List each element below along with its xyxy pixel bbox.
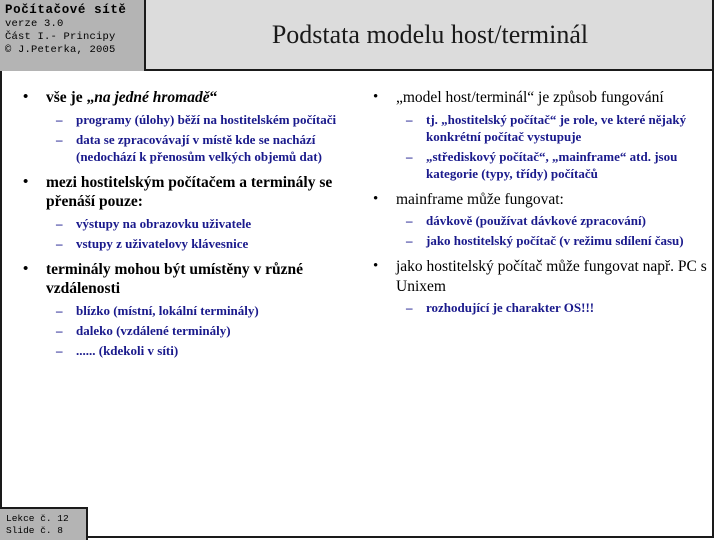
slide-number: Slide č. 8 [6,525,86,537]
sub-list-item-label: vstupy z uživatelovy klávesnice [76,235,359,252]
course-title: Počítačové sítě [5,3,144,18]
sub-list-item: – dávkově (používat dávkové zpracování) [396,212,712,229]
sub-list-item: – blízko (místní, lokální terminály) [46,302,359,319]
sub-list: – dávkově (používat dávkové zpracování) … [396,212,712,249]
sub-list-item: – data se zpracovávají v místě kde se na… [46,131,359,165]
sub-list-item-label: výstupy na obrazovku uživatele [76,215,359,232]
list-item: • terminály mohou být umístěny v různé v… [14,260,359,359]
content-column-right: • „model host/terminál“ je způsob fungov… [364,88,712,324]
dash-icon: – [56,302,63,319]
bullet-list-right: • „model host/terminál“ je způsob fungov… [364,88,712,316]
course-copyright: © J.Peterka, 2005 [5,44,144,57]
sub-list-item-label: blízko (místní, lokální terminály) [76,302,359,319]
list-item: • jako hostitelský počítač může fungovat… [364,257,712,316]
sub-list-item: – rozhodující je charakter OS!!! [396,299,712,316]
slide-header-band: Počítačové sítě verze 3.0 Část I.- Princ… [0,0,714,71]
dash-icon: – [406,148,413,165]
bullet-icon: • [373,257,378,277]
sub-list-item-label: dávkově (používat dávkové zpracování) [426,212,712,229]
sub-list-item-label: „střediskový počítač“, „mainframe“ atd. … [426,148,712,182]
course-part: Část I.- Principy [5,31,144,44]
list-item: • vše je „na jedné hromadě“ – programy (… [14,88,359,165]
dash-icon: – [406,232,413,249]
sub-list-item-label: programy (úlohy) běží na hostitelském po… [76,111,359,128]
bullet-icon: • [23,173,28,193]
sub-list-item-label: ...... (kdekoli v síti) [76,342,359,359]
sub-list-item-label: daleko (vzdálené terminály) [76,322,359,339]
sub-list: – programy (úlohy) běží na hostitelském … [46,111,359,165]
dash-icon: – [56,322,63,339]
sub-list: – rozhodující je charakter OS!!! [396,299,712,316]
bullet-icon: • [23,260,28,280]
dash-icon: – [406,111,413,128]
list-item: • mezi hostitelským počítačem a terminál… [14,173,359,252]
list-item-label: vše je „na jedné hromadě“ [46,88,359,108]
sub-list-item-label: rozhodující je charakter OS!!! [426,299,712,316]
sub-list-item: – „střediskový počítač“, „mainframe“ atd… [396,148,712,182]
sub-list-item: – jako hostitelský počítač (v režimu sdí… [396,232,712,249]
sub-list-item: – vstupy z uživatelovy klávesnice [46,235,359,252]
sub-list-item: – výstupy na obrazovku uživatele [46,215,359,232]
list-item-label: mezi hostitelským počítačem a terminály … [46,173,359,212]
text-post: “ [210,89,218,106]
sub-list-item: – ...... (kdekoli v síti) [46,342,359,359]
lecture-number: Lekce č. 12 [6,513,86,525]
page-title: Podstata modelu host/terminál [148,0,712,69]
bullet-icon: • [373,88,378,108]
dash-icon: – [56,215,63,232]
list-item-label: terminály mohou být umístěny v různé vzd… [46,260,359,299]
dash-icon: – [406,299,413,316]
sub-list-item: – tj. „hostitelský počítač“ je role, ve … [396,111,712,145]
dash-icon: – [56,342,63,359]
sub-list: – blízko (místní, lokální terminály) – d… [46,302,359,359]
list-item-label: jako hostitelský počítač může fungovat n… [396,257,712,296]
text-italic: na jedné hromadě [94,89,209,106]
text-pre: vše je „ [46,89,94,106]
dash-icon: – [56,235,63,252]
sub-list-item: – programy (úlohy) běží na hostitelském … [46,111,359,128]
list-item: • mainframe může fungovat: – dávkově (po… [364,190,712,250]
content-column-left: • vše je „na jedné hromadě“ – programy (… [14,88,359,367]
sub-list-item-label: tj. „hostitelský počítač“ je role, ve kt… [426,111,712,145]
bullet-icon: • [373,190,378,210]
bullet-icon: • [23,88,28,108]
sub-list-item-label: data se zpracovávají v místě kde se nach… [76,131,359,165]
course-version: verze 3.0 [5,18,144,31]
sub-list-item-label: jako hostitelský počítač (v režimu sdíle… [426,232,712,249]
sub-list: – tj. „hostitelský počítač“ je role, ve … [396,111,712,182]
dash-icon: – [56,131,63,148]
list-item-label: mainframe může fungovat: [396,190,712,210]
bullet-list-left: • vše je „na jedné hromadě“ – programy (… [14,88,359,359]
list-item-label: „model host/terminál“ je způsob fungován… [396,88,712,108]
sub-list: – výstupy na obrazovku uživatele – vstup… [46,215,359,252]
dash-icon: – [406,212,413,229]
course-logo-box: Počítačové sítě verze 3.0 Část I.- Princ… [0,0,146,71]
sub-list-item: – daleko (vzdálené terminály) [46,322,359,339]
slide-footer-box: Lekce č. 12 Slide č. 8 [0,507,88,540]
slide: Počítačové sítě verze 3.0 Část I.- Princ… [0,0,720,540]
dash-icon: – [56,111,63,128]
list-item: • „model host/terminál“ je způsob fungov… [364,88,712,182]
